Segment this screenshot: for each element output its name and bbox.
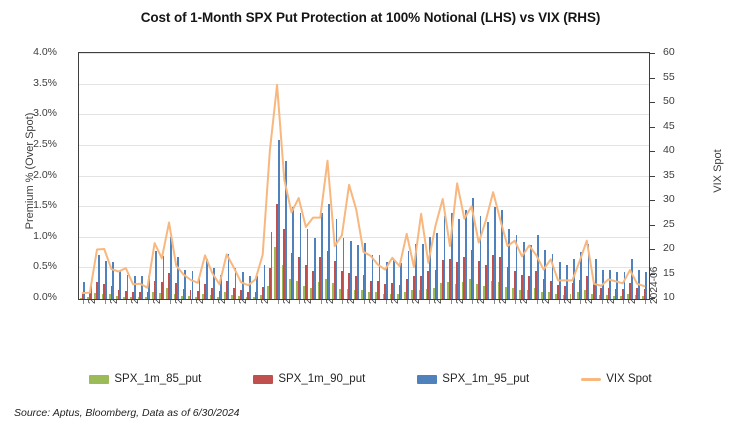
x-axis-tickmark [451, 300, 452, 304]
y-axis-right-tickmark [650, 249, 655, 250]
y-axis-right-title: VIX Spot [712, 61, 724, 281]
x-axis-tickmark [537, 300, 538, 304]
y-axis-right-tickmark [650, 78, 655, 79]
y-axis-right-tickmark [650, 176, 655, 177]
legend-swatch-icon [253, 375, 273, 384]
legend-item-label: VIX Spot [606, 373, 651, 385]
x-axis-tick-label: 2024-06 [649, 267, 660, 304]
x-axis-tickmark [213, 300, 214, 304]
x-axis-tickmark [386, 300, 387, 304]
y-axis-left-tick-label: 1.0% [0, 231, 57, 242]
x-axis-tickmark [364, 300, 365, 304]
y-axis-right-tick-label: 30 [663, 194, 703, 205]
x-axis-tickmark [256, 300, 257, 304]
y-axis-right-tickmark [650, 151, 655, 152]
legend-item[interactable]: SPX_1m_90_put [253, 373, 365, 385]
chart-container: Cost of 1-Month SPX Put Protection at 10… [0, 0, 741, 428]
x-axis-tickmark [321, 300, 322, 304]
x-axis-tickmark [580, 300, 581, 304]
chart-legend: SPX_1m_85_putSPX_1m_90_putSPX_1m_95_putV… [0, 373, 741, 385]
vix-line-series [79, 53, 648, 298]
x-axis-tickmark [645, 300, 646, 304]
x-axis-tickmark [234, 300, 235, 304]
legend-item-label: SPX_1m_90_put [278, 373, 365, 385]
y-axis-left-tick-label: 2.5% [0, 139, 57, 150]
x-axis-tickmark [191, 300, 192, 304]
legend-item[interactable]: SPX_1m_85_put [89, 373, 201, 385]
x-axis-tickmark [126, 300, 127, 304]
y-axis-right-tick-label: 35 [663, 170, 703, 181]
x-axis-tickmark [299, 300, 300, 304]
y-axis-right-tick-label: 10 [663, 292, 703, 303]
legend-swatch-icon [89, 375, 109, 384]
x-axis-tickmark [83, 300, 84, 304]
x-axis-tickmark [472, 300, 473, 304]
x-axis-tickmark [342, 300, 343, 304]
y-axis-right-tick-label: 60 [663, 47, 703, 58]
y-axis-right-tick-label: 45 [663, 121, 703, 132]
y-axis-left-tick-label: 1.5% [0, 200, 57, 211]
x-axis-tickmark [602, 300, 603, 304]
y-axis-right-tickmark [650, 127, 655, 128]
y-axis-right-tick-label: 55 [663, 72, 703, 83]
x-axis-tickmark [278, 300, 279, 304]
x-axis-tickmark [170, 300, 171, 304]
y-axis-right-tick-label: 50 [663, 96, 703, 107]
y-axis-left-tick-label: 3.0% [0, 108, 57, 119]
y-axis-right-tick-label: 15 [663, 268, 703, 279]
y-axis-right-tickmark [650, 53, 655, 54]
x-axis-tickmark [515, 300, 516, 304]
x-axis-tickmark [429, 300, 430, 304]
legend-item[interactable]: SPX_1m_95_put [417, 373, 529, 385]
y-axis-right-tickmark [650, 225, 655, 226]
y-axis-right-tickmark [650, 102, 655, 103]
plot-inner [79, 53, 649, 299]
x-axis-tickmark [559, 300, 560, 304]
y-axis-left-tick-label: 4.0% [0, 47, 57, 58]
x-axis-tickmark [148, 300, 149, 304]
y-axis-right-tick-label: 25 [663, 219, 703, 230]
legend-item[interactable]: VIX Spot [581, 373, 651, 385]
y-axis-right-tick-label: 40 [663, 145, 703, 156]
y-axis-right-tick-label: 20 [663, 243, 703, 254]
y-axis-left-tick-label: 0.0% [0, 292, 57, 303]
legend-item-label: SPX_1m_85_put [114, 373, 201, 385]
source-note: Source: Aptus, Bloomberg, Data as of 6/3… [14, 407, 240, 419]
legend-item-label: SPX_1m_95_put [442, 373, 529, 385]
x-axis-tickmark [623, 300, 624, 304]
y-axis-left-tick-label: 3.5% [0, 78, 57, 89]
y-axis-left-tick-label: 0.5% [0, 261, 57, 272]
legend-line-icon [581, 378, 601, 381]
x-axis-tickmark [407, 300, 408, 304]
x-axis-tickmark [105, 300, 106, 304]
x-axis-tickmark [494, 300, 495, 304]
chart-title: Cost of 1-Month SPX Put Protection at 10… [0, 10, 741, 25]
y-axis-right-tickmark [650, 200, 655, 201]
plot-area [78, 52, 650, 300]
y-axis-left-tick-label: 2.0% [0, 170, 57, 181]
legend-swatch-icon [417, 375, 437, 384]
